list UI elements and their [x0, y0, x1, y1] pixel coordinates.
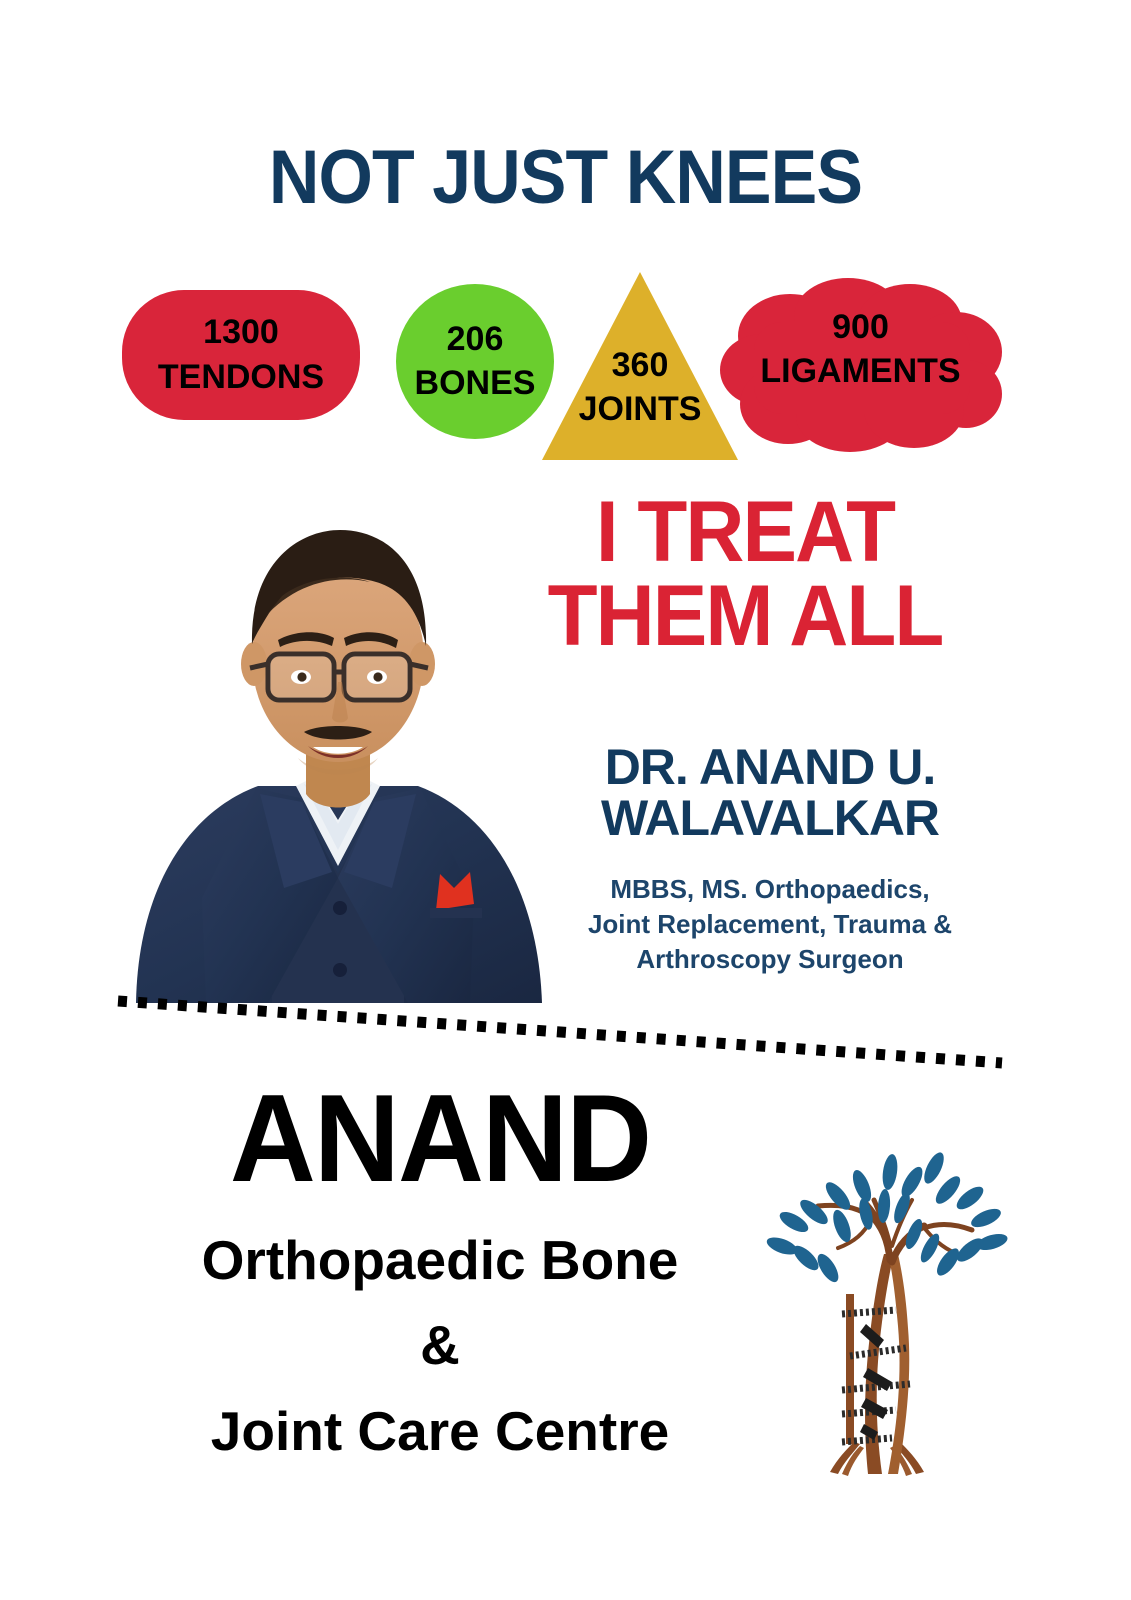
- anatomy-stats-row: 1300 TENDONS 206 BONES 360 JOINTS: [0, 262, 1131, 472]
- credential-line-1: MBBS, MS. Orthopaedics,: [520, 872, 1020, 907]
- stat-number-joints: 360: [540, 348, 740, 383]
- poster-canvas: NOT JUST KNEES 1300 TENDONS 206 BONES 36…: [0, 0, 1131, 1600]
- tagline-line-1: Orthopaedic Bone: [60, 1218, 820, 1303]
- stat-label-tendons: TENDONS: [158, 360, 324, 395]
- stat-label-ligaments: LIGAMENTS: [718, 354, 1003, 389]
- slogan: I TREAT THEM ALL: [493, 490, 997, 659]
- stat-badge-joints: 360 JOINTS: [540, 270, 740, 462]
- stat-label-joints: JOINTS: [540, 392, 740, 427]
- brand-name: ANAND: [75, 1077, 805, 1201]
- slogan-line-2: THEM ALL: [493, 574, 997, 658]
- brand-tagline: Orthopaedic Bone & Joint Care Centre: [60, 1218, 820, 1474]
- stat-label-bones: BONES: [415, 366, 536, 401]
- doctor-portrait-photo: [118, 468, 558, 1003]
- doctor-name-line-2: WALAVALKAR: [520, 793, 1020, 844]
- stat-badge-tendons: 1300 TENDONS: [122, 290, 360, 420]
- doctor-name: DR. ANAND U. WALAVALKAR: [520, 742, 1020, 844]
- stat-badge-bones: 206 BONES: [396, 284, 554, 439]
- stat-number-tendons: 1300: [203, 315, 279, 350]
- page-title: NOT JUST KNEES: [45, 140, 1086, 216]
- credential-line-2: Joint Replacement, Trauma &: [520, 907, 1020, 942]
- stat-number-ligaments: 900: [718, 310, 1003, 345]
- splinted-tree-icon: [742, 1142, 1017, 1482]
- portrait-illustration: [118, 468, 558, 1003]
- doctor-name-line-1: DR. ANAND U.: [605, 739, 936, 795]
- tagline-line-3: Joint Care Centre: [60, 1389, 820, 1474]
- stat-badge-ligaments: 900 LIGAMENTS: [718, 274, 1003, 454]
- tagline-line-2: &: [60, 1303, 820, 1388]
- stat-number-bones: 206: [447, 322, 504, 357]
- credential-line-3: Arthroscopy Surgeon: [520, 942, 1020, 977]
- clinic-logo: [742, 1142, 1017, 1482]
- doctor-credentials: MBBS, MS. Orthopaedics, Joint Replacemen…: [520, 872, 1020, 977]
- slogan-line-1: I TREAT: [596, 484, 894, 580]
